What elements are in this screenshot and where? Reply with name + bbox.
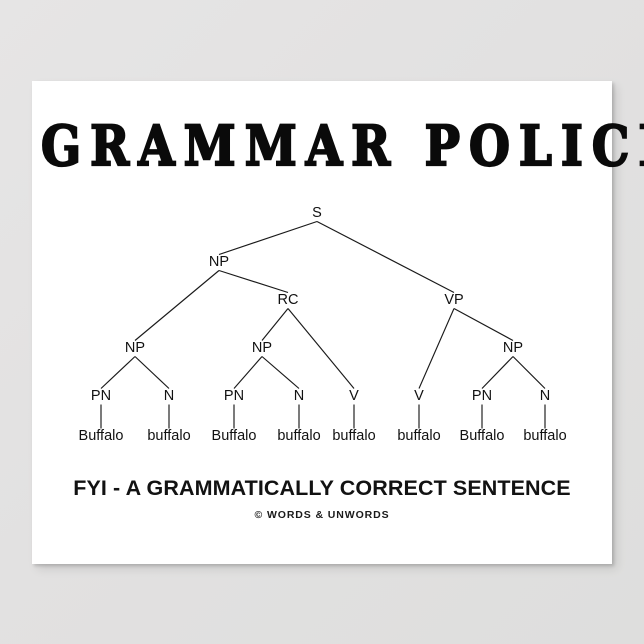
tree-edge	[419, 309, 454, 389]
tree-edge	[513, 357, 545, 389]
tree-edge	[454, 309, 513, 341]
tree-node-pn2: PN	[224, 388, 244, 404]
tree-edge	[101, 357, 135, 389]
page-title: GRAMMAR POLICE	[32, 119, 612, 174]
copyright-text: © WORDS & UNWORDS	[32, 509, 612, 521]
tree-edge	[317, 222, 454, 293]
tree-node-rc: RC	[278, 292, 299, 308]
tree-leaf-l6: buffalo	[397, 428, 440, 444]
tree-node-np1: NP	[209, 254, 229, 270]
tree-edge	[288, 309, 354, 389]
tree-leaf-l2: buffalo	[147, 428, 190, 444]
tree-node-pn1: PN	[91, 388, 111, 404]
tree-node-v1: V	[349, 388, 359, 404]
parse-tree-svg: SNPRCVPNPNPNPPNNPNNVVPNN BuffalobuffaloB…	[32, 191, 612, 451]
parse-tree-diagram: SNPRCVPNPNPNPPNNPNNVVPNN BuffalobuffaloB…	[32, 191, 612, 451]
tree-edge	[219, 271, 288, 293]
tree-node-n3: N	[540, 388, 550, 404]
tree-leaf-layer: BuffalobuffaloBuffalobuffalobuffalobuffa…	[79, 428, 567, 444]
tree-leaf-l3: Buffalo	[212, 428, 257, 444]
tree-edge	[482, 357, 513, 389]
tree-node-v2: V	[414, 388, 424, 404]
tree-leaf-l7: Buffalo	[460, 428, 505, 444]
poster-sheet: GRAMMAR POLICE SNPRCVPNPNPNPPNNPNNVVPNN …	[32, 81, 612, 564]
tree-node-vp: VP	[444, 292, 463, 308]
tree-node-np3: NP	[252, 340, 272, 356]
tree-edge	[219, 222, 317, 255]
tree-node-n2: N	[294, 388, 304, 404]
tree-node-np4: NP	[503, 340, 523, 356]
tree-edge	[234, 357, 262, 389]
tree-node-layer: SNPRCVPNPNPNPPNNPNNVVPNN	[91, 205, 550, 404]
tree-edge	[262, 357, 299, 389]
tree-leaf-l5: buffalo	[332, 428, 375, 444]
tree-node-np2: NP	[125, 340, 145, 356]
tree-edge	[135, 271, 219, 341]
tree-leaf-l4: buffalo	[277, 428, 320, 444]
tree-leaf-l8: buffalo	[523, 428, 566, 444]
tree-node-s: S	[312, 205, 322, 221]
caption-text: FYI - A GRAMMATICALLY CORRECT SENTENCE	[32, 476, 612, 501]
tree-leaf-l1: Buffalo	[79, 428, 124, 444]
tree-node-pn3: PN	[472, 388, 492, 404]
tree-node-n1: N	[164, 388, 174, 404]
tree-edge	[262, 309, 288, 341]
tree-edge	[135, 357, 169, 389]
